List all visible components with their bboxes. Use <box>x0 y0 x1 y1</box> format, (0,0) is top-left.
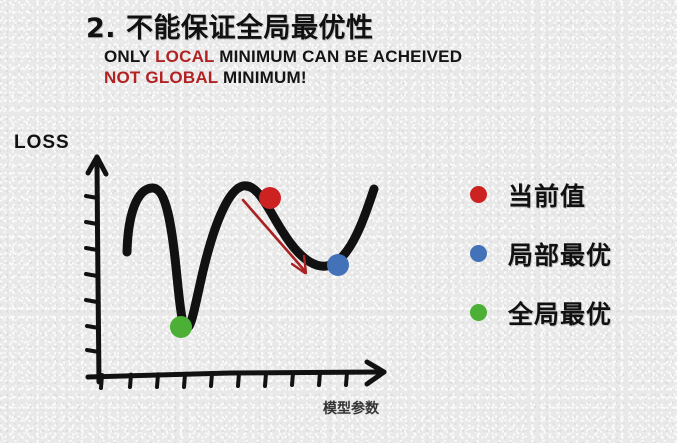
y-axis <box>88 157 106 382</box>
x-axis-label: 模型参数 <box>323 398 379 418</box>
legend-swatch-green-icon <box>470 304 487 321</box>
global-minimum-point <box>170 316 192 338</box>
current-value-point <box>259 187 281 209</box>
legend-item-global-minimum: 全局最优 <box>470 283 670 342</box>
legend-swatch-blue-icon <box>470 245 487 262</box>
chart-legend: 当前值 局部最优 全局最优 <box>470 165 670 342</box>
legend-swatch-red-icon <box>470 186 487 203</box>
legend-label-global-minimum: 全局最优 <box>508 295 612 331</box>
legend-label-current-value: 当前值 <box>508 177 586 213</box>
legend-item-current-value: 当前值 <box>470 165 670 224</box>
local-minimum-point <box>327 254 349 276</box>
slide-canvas: 2. 不能保证全局最优性 ONLY LOCAL MINIMUM CAN BE A… <box>0 0 677 443</box>
legend-item-local-minimum: 局部最优 <box>470 224 670 283</box>
legend-label-local-minimum: 局部最优 <box>508 236 612 272</box>
y-axis-label: LOSS <box>14 132 70 154</box>
